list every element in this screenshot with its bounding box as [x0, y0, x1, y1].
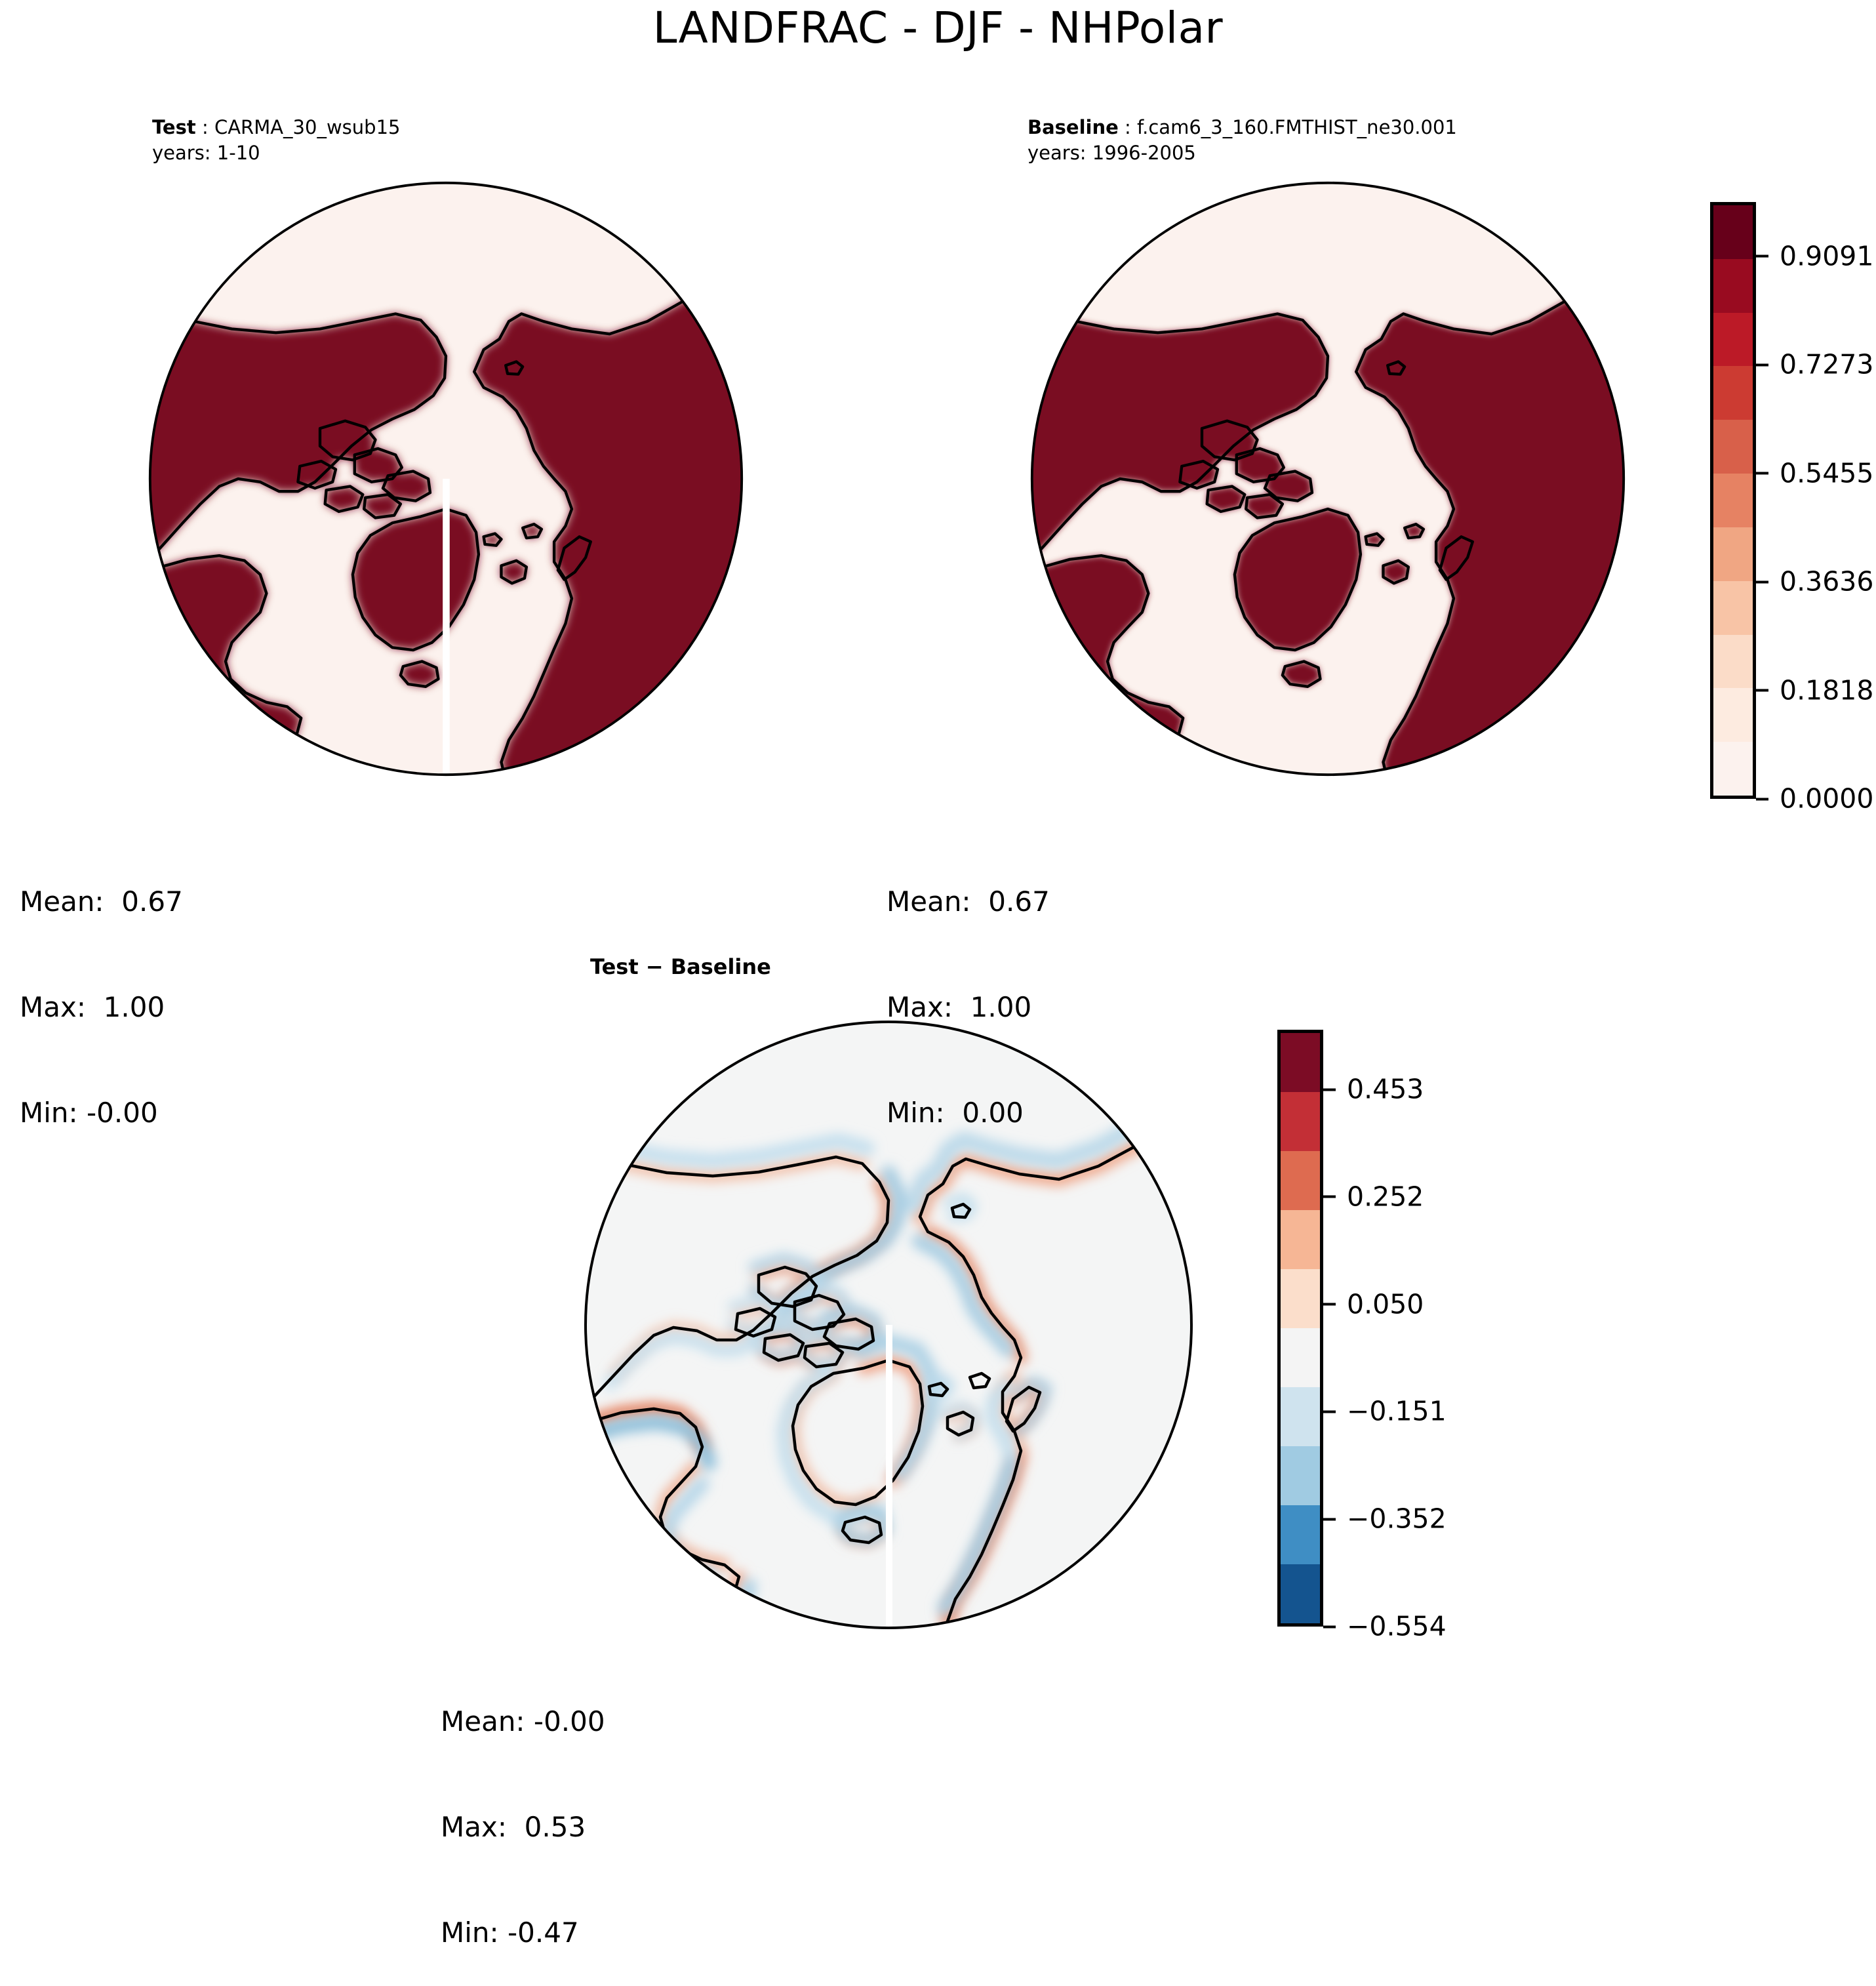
tick-mark-icon: [1323, 1303, 1336, 1306]
colorbar-tick-4: 0.1818: [1756, 677, 1873, 704]
tick-label: 0.9091: [1780, 243, 1873, 270]
baseline-max-value: Max: 1.00: [887, 990, 1050, 1025]
test-max-value: Max: 1.00: [20, 990, 183, 1025]
top-colorbar-gradient: [1710, 202, 1756, 799]
tick-mark-icon: [1323, 1410, 1336, 1413]
colorbar-band-6: [1281, 1387, 1320, 1446]
difference-statistics: Mean: -0.00 Max: 0.53 Min: -0.47: [441, 1633, 605, 1986]
baseline-statistics: Mean: 0.67 Max: 1.00 Min: 0.00: [887, 813, 1050, 1166]
bottom-colorbar-gradient: [1277, 1030, 1323, 1627]
baseline-min-value: Min: 0.00: [887, 1095, 1050, 1131]
colorbar-band-6: [1713, 527, 1753, 581]
baseline-separator: :: [1119, 116, 1137, 138]
colorbar-band-9: [1281, 1564, 1320, 1623]
colorbar-band-10: [1713, 742, 1753, 796]
bottom-colorbar-ticks: 0.4530.2520.050−0.151−0.352−0.554: [1323, 1030, 1546, 1627]
colorbar-band-8: [1713, 635, 1753, 689]
colorbar-band-3: [1281, 1210, 1320, 1269]
colorbar-band-8: [1281, 1505, 1320, 1564]
colorbar-band-0: [1281, 1033, 1320, 1092]
tick-mark-icon: [1756, 363, 1768, 366]
colorbar-band-4: [1713, 420, 1753, 474]
colorbar-band-2: [1281, 1151, 1320, 1210]
colorbar-tick-2: 0.050: [1323, 1291, 1424, 1318]
colorbar-band-9: [1713, 688, 1753, 742]
difference-max-value: Max: 0.53: [441, 1810, 605, 1845]
tick-label: −0.554: [1347, 1613, 1447, 1640]
tick-label: 0.453: [1347, 1076, 1424, 1103]
colorbar-band-3: [1713, 366, 1753, 420]
tick-mark-icon: [1323, 1196, 1336, 1198]
tick-mark-icon: [1756, 689, 1768, 692]
colorbar-band-2: [1713, 313, 1753, 367]
difference-min-value: Min: -0.47: [441, 1915, 605, 1951]
tick-label: −0.352: [1347, 1506, 1447, 1533]
tick-label: 0.252: [1347, 1183, 1424, 1210]
test-case-name: CARMA_30_wsub15: [214, 116, 401, 138]
colorbar-band-7: [1281, 1446, 1320, 1505]
test-min-value: Min: -0.00: [20, 1095, 183, 1131]
tick-mark-icon: [1756, 472, 1768, 475]
tick-label: −0.151: [1347, 1398, 1447, 1425]
bottom-colorbar[interactable]: 0.4530.2520.050−0.151−0.352−0.554: [1277, 1030, 1323, 1627]
test-panel-header: Test : CARMA_30_wsub15 years: 1-10: [152, 115, 400, 167]
colorbar-band-7: [1713, 581, 1753, 635]
tick-label: 0.7273: [1780, 352, 1873, 378]
colorbar-tick-5: 0.0000: [1756, 786, 1873, 813]
test-mean-value: Mean: 0.67: [20, 884, 183, 920]
test-polar-map: [131, 164, 761, 794]
tick-label: 0.050: [1347, 1291, 1424, 1318]
colorbar-tick-1: 0.252: [1323, 1183, 1424, 1210]
baseline-tag-label: Baseline: [1028, 116, 1119, 138]
tick-label: 0.3636: [1780, 569, 1873, 596]
test-meridian-seam: [443, 479, 450, 794]
top-colorbar-ticks: 0.90910.72730.54550.36360.18180.0000: [1756, 202, 1876, 799]
baseline-years-label: years: 1996-2005: [1028, 140, 1457, 166]
colorbar-band-0: [1713, 205, 1753, 259]
tick-label: 0.5455: [1780, 460, 1873, 487]
tick-label: 0.1818: [1780, 677, 1873, 704]
tick-mark-icon: [1323, 1518, 1336, 1520]
test-tag-label: Test: [152, 116, 196, 138]
colorbar-tick-0: 0.9091: [1756, 243, 1873, 270]
test-statistics: Mean: 0.67 Max: 1.00 Min: -0.00: [20, 813, 183, 1166]
colorbar-tick-1: 0.7273: [1756, 352, 1873, 378]
colorbar-band-5: [1713, 474, 1753, 527]
baseline-panel-header: Baseline : f.cam6_3_160.FMTHIST_ne30.001…: [1028, 115, 1457, 167]
baseline-polar-map: [1013, 164, 1643, 794]
test-years-label: years: 1-10: [152, 140, 400, 166]
tick-mark-icon: [1756, 798, 1768, 800]
colorbar-band-5: [1281, 1328, 1320, 1387]
colorbar-tick-4: −0.352: [1323, 1506, 1447, 1533]
top-colorbar[interactable]: 0.90910.72730.54550.36360.18180.0000: [1710, 202, 1756, 799]
difference-meridian-seam: [886, 1325, 892, 1653]
difference-panel-title: Test − Baseline: [590, 954, 771, 979]
colorbar-band-1: [1281, 1092, 1320, 1151]
difference-mean-value: Mean: -0.00: [441, 1704, 605, 1739]
colorbar-tick-0: 0.453: [1323, 1076, 1424, 1103]
tick-label: 0.0000: [1780, 786, 1873, 813]
colorbar-band-4: [1281, 1269, 1320, 1328]
colorbar-tick-3: −0.151: [1323, 1398, 1447, 1425]
colorbar-band-1: [1713, 259, 1753, 313]
colorbar-tick-3: 0.3636: [1756, 569, 1873, 596]
page-title: LANDFRAC - DJF - NHPolar: [0, 7, 1876, 50]
colorbar-tick-5: −0.554: [1323, 1613, 1447, 1640]
baseline-mean-value: Mean: 0.67: [887, 884, 1050, 920]
tick-mark-icon: [1323, 1088, 1336, 1091]
tick-mark-icon: [1756, 255, 1768, 258]
baseline-case-name: f.cam6_3_160.FMTHIST_ne30.001: [1137, 116, 1457, 138]
tick-mark-icon: [1323, 1625, 1336, 1628]
tick-mark-icon: [1756, 580, 1768, 583]
colorbar-tick-2: 0.5455: [1756, 460, 1873, 487]
test-separator: :: [196, 116, 214, 138]
